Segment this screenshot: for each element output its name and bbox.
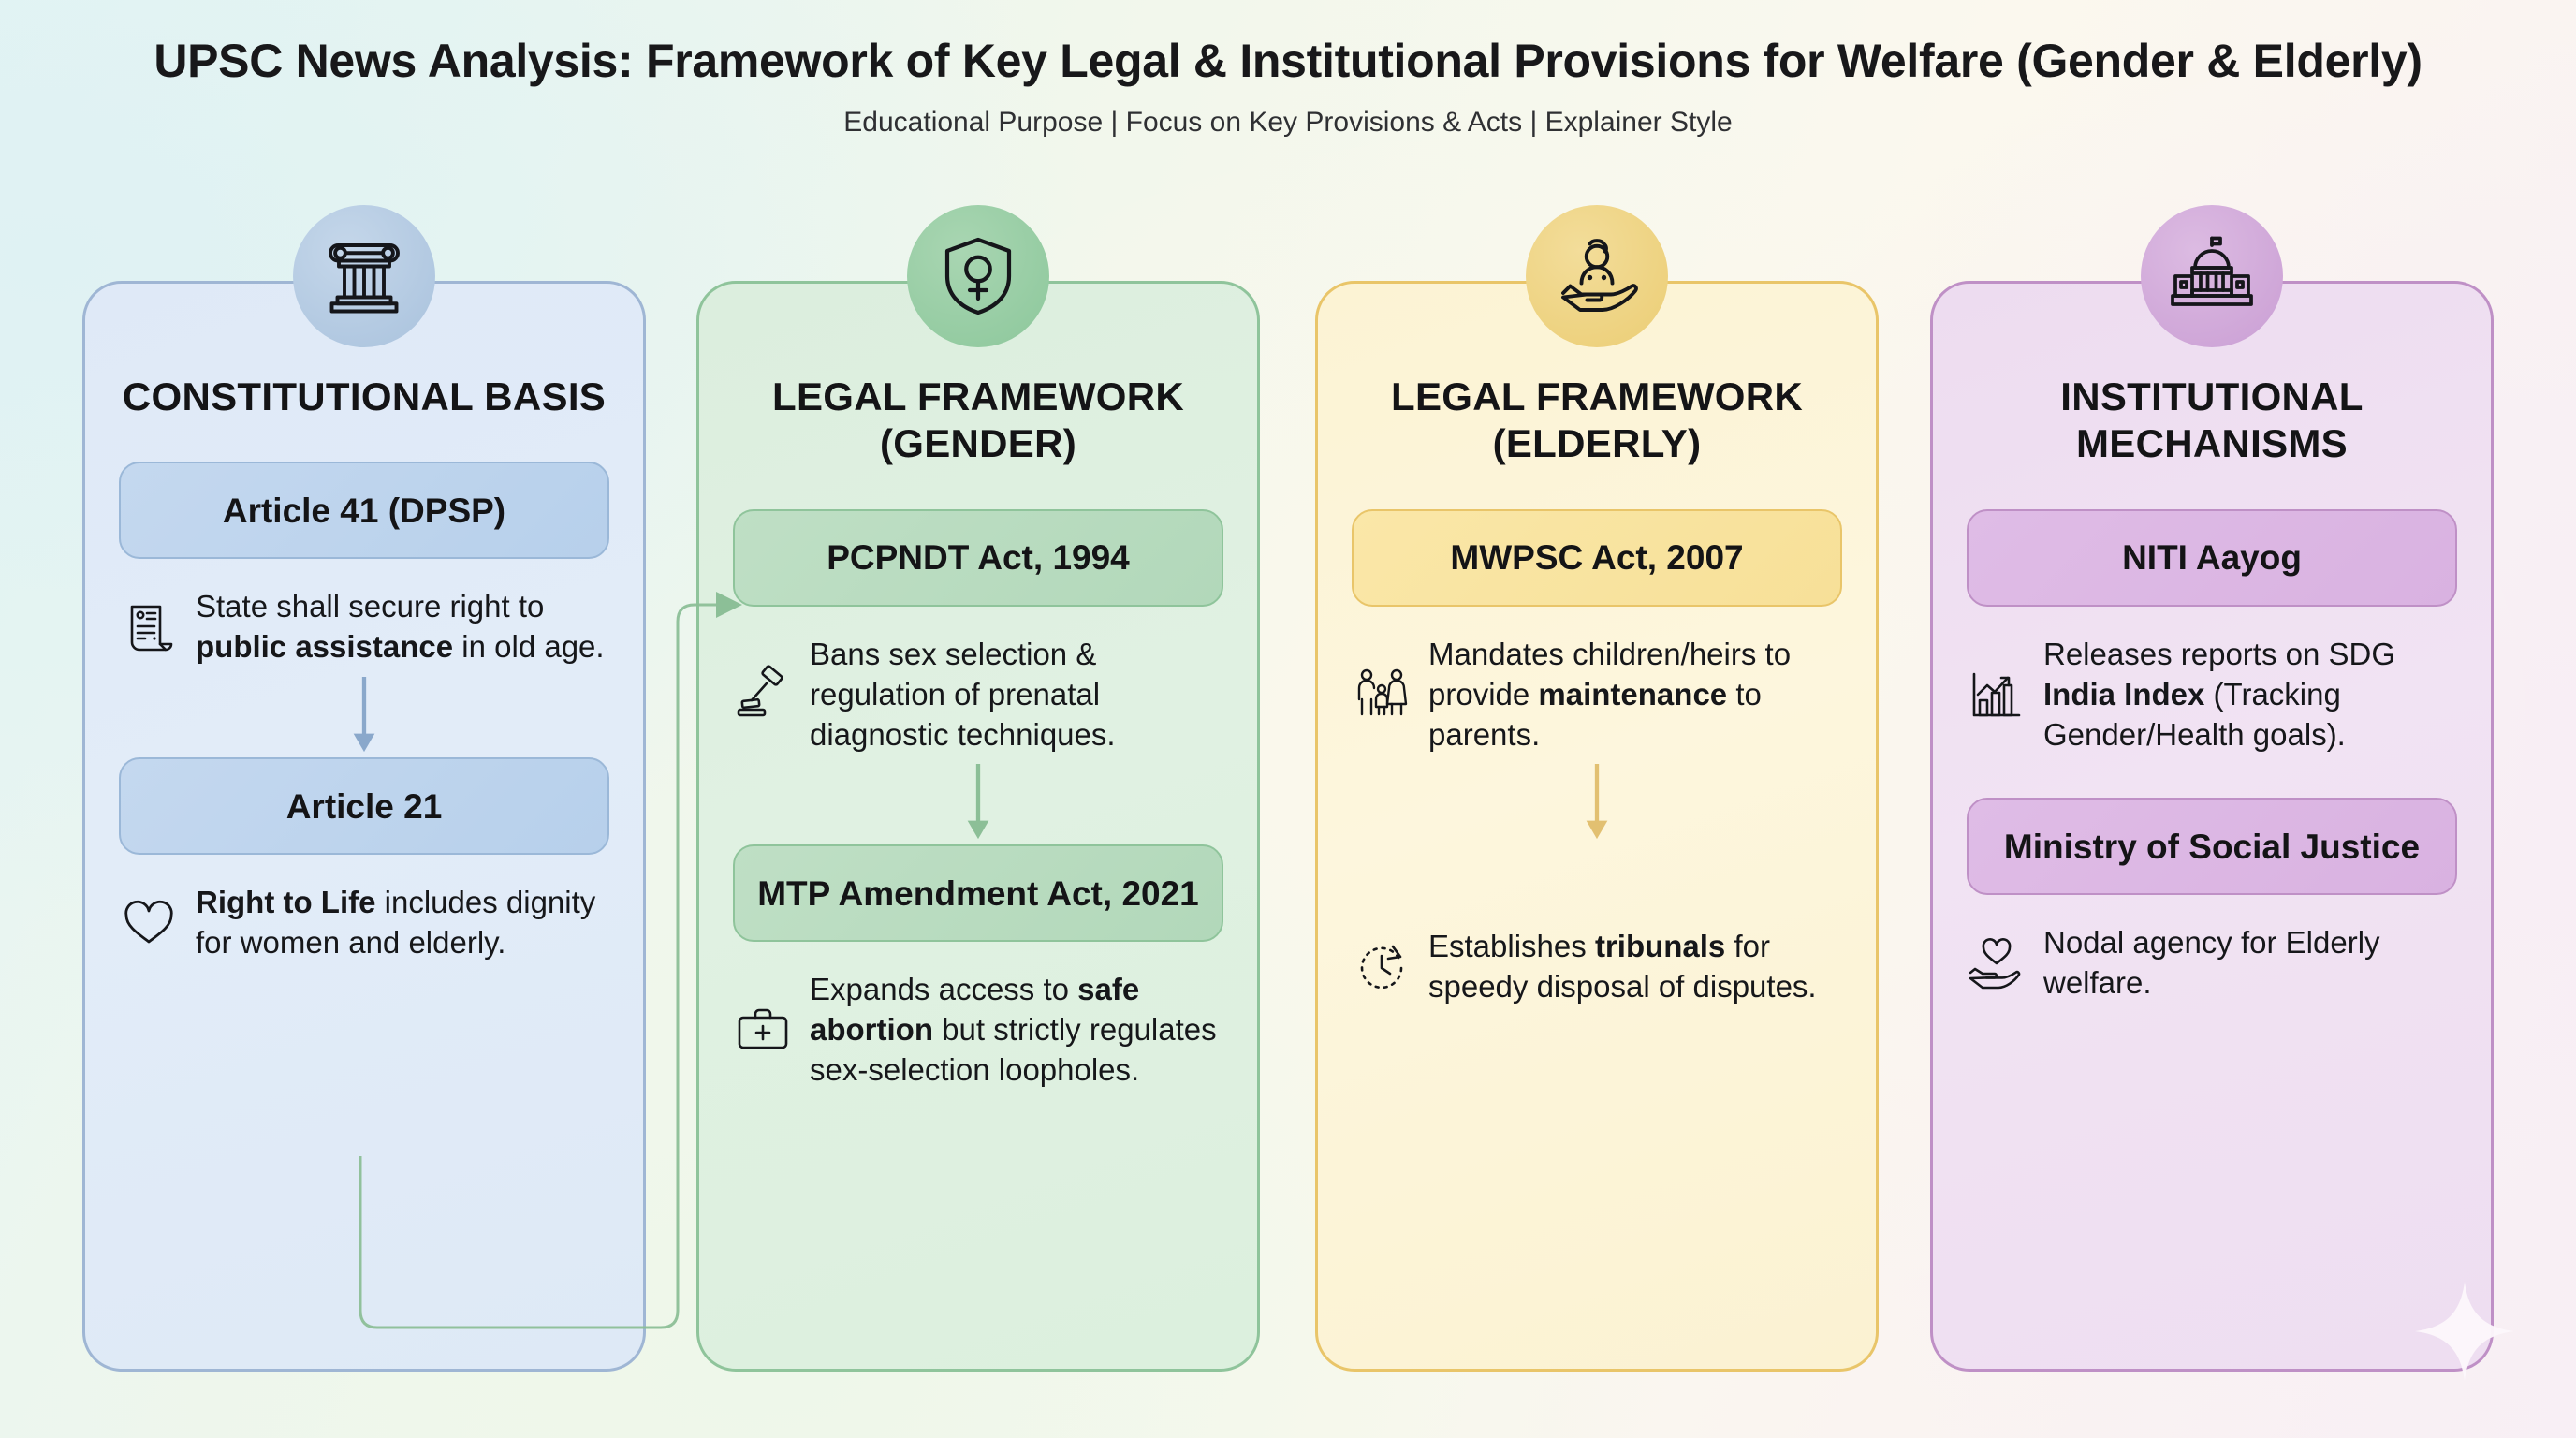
detail-row: Expands access to safe abortion but stri…	[733, 970, 1223, 1091]
card-legal-framework-gender: LEGAL FRAMEWORK (GENDER) PCPNDT Act, 199…	[696, 281, 1260, 1372]
pillar-icon	[293, 205, 435, 347]
page-title: UPSC News Analysis: Framework of Key Leg…	[0, 34, 2576, 88]
pill-article-41[interactable]: Article 41 (DPSP)	[119, 462, 609, 559]
growth-chart-icon	[1967, 665, 2027, 725]
detail-row: Nodal agency for Elderly welfare.	[1967, 923, 2457, 1004]
pill-pcpndt-act[interactable]: PCPNDT Act, 1994	[733, 509, 1223, 607]
card-institutional-mechanisms: INSTITUTIONAL MECHANISMS NITI Aayog Rele…	[1930, 281, 2494, 1372]
arrow-article41-to-article21	[119, 677, 609, 757]
scroll-document-icon	[119, 597, 179, 657]
arrow-pcpndt-to-mtp	[733, 764, 1223, 844]
detail-text: Right to Life includes dignity for women…	[196, 883, 609, 963]
detail-text: Establishes tribunals for speedy disposa…	[1428, 927, 1842, 1007]
arrow-mwpsc-to-tribunals	[1352, 764, 1842, 844]
clock-icon	[1352, 937, 1412, 997]
pill-mtp-amendment-act[interactable]: MTP Amendment Act, 2021	[733, 844, 1223, 942]
gavel-icon	[733, 665, 793, 725]
page-subtitle: Educational Purpose | Focus on Key Provi…	[0, 107, 2576, 139]
card-constitutional-basis: CONSTITUTIONAL BASIS Article 41 (DPSP) S…	[82, 281, 646, 1372]
detail-row: State shall secure right to public assis…	[119, 587, 609, 668]
elderly-care-hand-icon	[1526, 205, 1668, 347]
card-title: LEGAL FRAMEWORK (GENDER)	[733, 374, 1223, 468]
detail-row: Releases reports on SDG India Index (Tra…	[1967, 635, 2457, 756]
pill-niti-aayog[interactable]: NITI Aayog	[1967, 509, 2457, 607]
pill-mwpsc-act[interactable]: MWPSC Act, 2007	[1352, 509, 1842, 607]
pill-ministry-of-social-justice[interactable]: Ministry of Social Justice	[1967, 798, 2457, 895]
detail-text: Nodal agency for Elderly welfare.	[2043, 923, 2457, 1004]
detail-text: Releases reports on SDG India Index (Tra…	[2043, 635, 2457, 756]
detail-text: Expands access to safe abortion but stri…	[810, 970, 1223, 1091]
detail-row: Establishes tribunals for speedy disposa…	[1352, 927, 1842, 1007]
family-icon	[1352, 665, 1412, 725]
detail-text: Bans sex selection & regulation of prena…	[810, 635, 1223, 756]
detail-row: Mandates children/heirs to provide maint…	[1352, 635, 1842, 756]
header: UPSC News Analysis: Framework of Key Leg…	[0, 0, 2576, 139]
card-title: INSTITUTIONAL MECHANISMS	[1967, 374, 2457, 468]
detail-text: State shall secure right to public assis…	[196, 587, 609, 668]
sparkle-decoration	[2413, 1280, 2516, 1383]
medical-kit-icon	[733, 1001, 793, 1061]
spacer	[1352, 844, 1842, 899]
card-title: LEGAL FRAMEWORK (ELDERLY)	[1352, 374, 1842, 468]
heart-icon	[119, 893, 179, 953]
card-title: CONSTITUTIONAL BASIS	[119, 374, 609, 420]
shield-female-icon	[907, 205, 1049, 347]
government-building-icon	[2141, 205, 2283, 347]
detail-text: Mandates children/heirs to provide maint…	[1428, 635, 1842, 756]
detail-row: Bans sex selection & regulation of prena…	[733, 635, 1223, 756]
pill-article-21[interactable]: Article 21	[119, 757, 609, 855]
card-legal-framework-elderly: LEGAL FRAMEWORK (ELDERLY) MWPSC Act, 200…	[1315, 281, 1879, 1372]
heart-in-hand-icon	[1967, 933, 2027, 993]
columns-container: CONSTITUTIONAL BASIS Article 41 (DPSP) S…	[0, 281, 2576, 1376]
spacer	[1967, 755, 2457, 798]
detail-row: Right to Life includes dignity for women…	[119, 883, 609, 963]
